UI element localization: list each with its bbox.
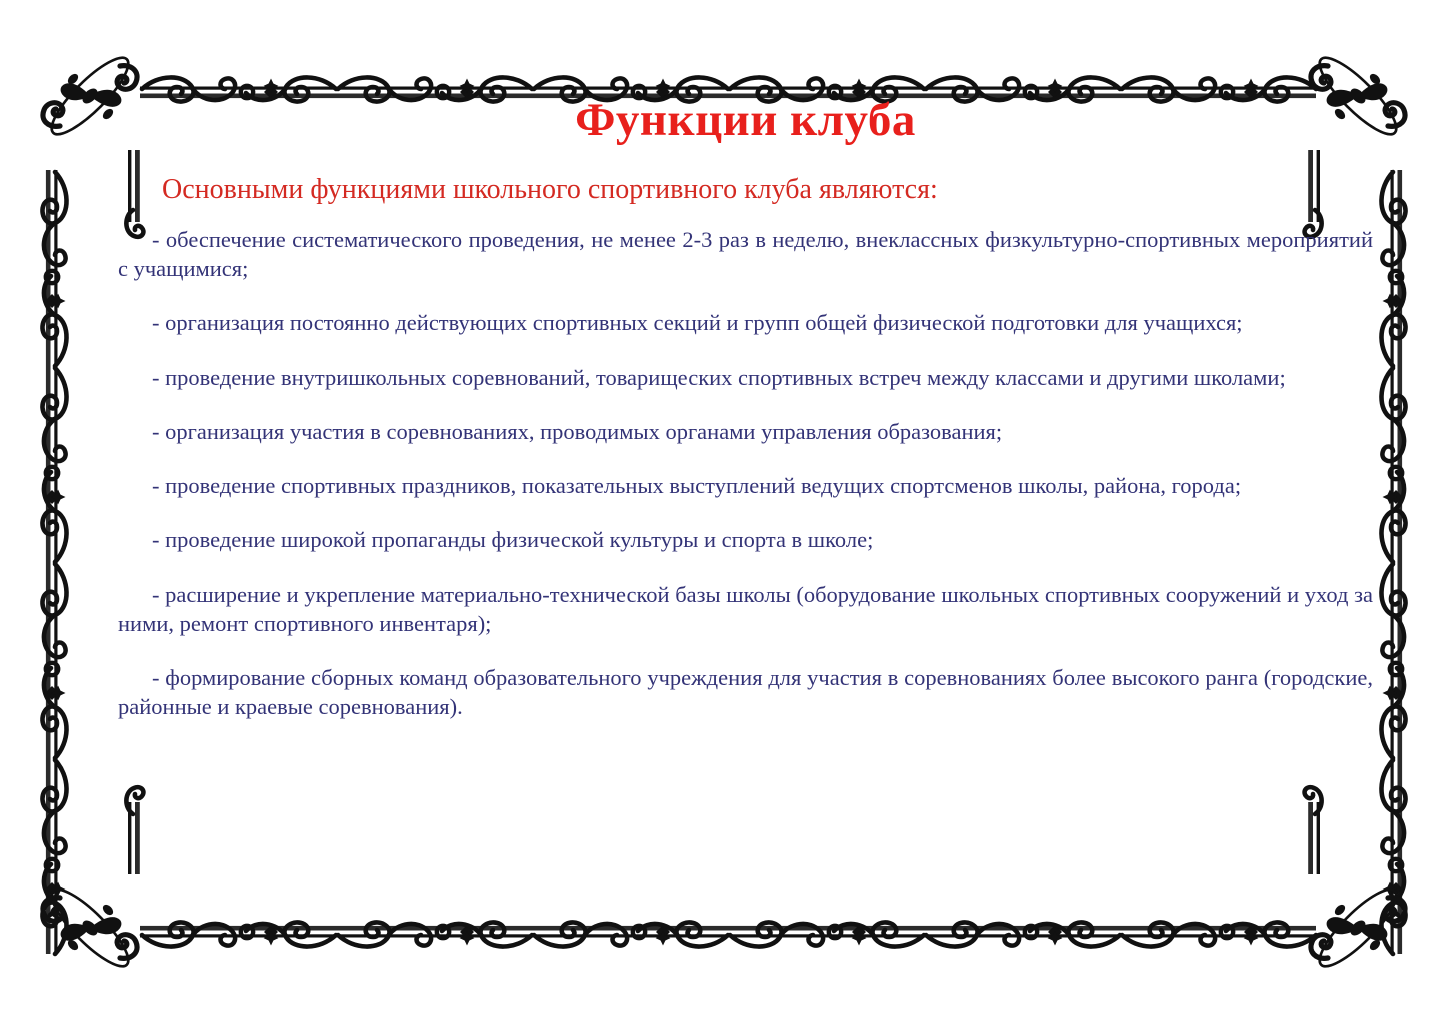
list-item: - организация постоянно действующих спор… (118, 308, 1373, 337)
border-right (1381, 170, 1405, 954)
list-item: - организация участия в соревнованиях, п… (118, 417, 1373, 446)
list-item: - формирование сборных команд образовате… (118, 663, 1373, 722)
slide: Функции клуба Основными функциями школьн… (0, 0, 1448, 1024)
page-title: Функции клуба (118, 96, 1373, 145)
slide-subtitle: Основными функциями школьного спортивног… (162, 173, 1373, 207)
list-item: - проведение широкой пропаганды физическ… (118, 525, 1373, 554)
list-item: - проведение спортивных праздников, пока… (118, 471, 1373, 500)
list-item: - проведение внутришкольных соревнований… (118, 363, 1373, 392)
border-left (42, 170, 66, 954)
list-item: - расширение и укрепление материально-те… (118, 580, 1373, 639)
list-item: - обеспечение систематического проведени… (118, 225, 1373, 284)
functions-list: - обеспечение систематического проведени… (118, 225, 1373, 722)
slide-content: Функции клуба Основными функциями школьн… (118, 96, 1373, 926)
border-bottom (140, 922, 1316, 946)
